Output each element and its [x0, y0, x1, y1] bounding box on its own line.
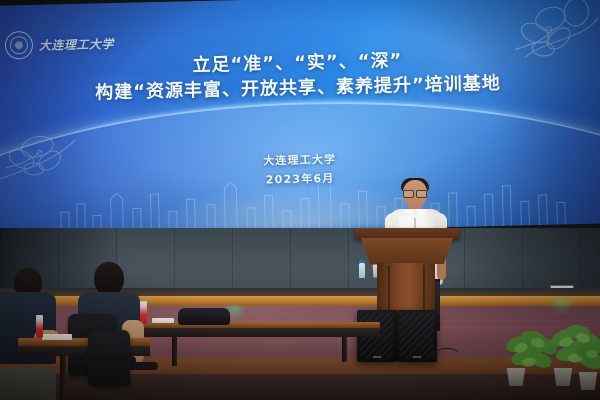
black-laptop-bag	[178, 308, 230, 325]
audience-desk-front-edge	[18, 346, 150, 356]
lectern-top	[355, 228, 459, 239]
slide-background: 大连理工大学 立足“准”、“实”、“深” 构建“资源丰富、开放共享、素养提升”培…	[0, 0, 600, 238]
projection-screen: 大连理工大学 立足“准”、“实”、“深” 构建“资源丰富、开放共享、素养提升”培…	[0, 0, 600, 238]
office-chair-left-arm	[84, 356, 136, 365]
floor-speaker-right	[397, 310, 437, 362]
paper-document-front	[42, 334, 72, 340]
attendee-left-legs	[0, 368, 56, 400]
podium-group	[355, 180, 465, 365]
audience-desk-back-leg-2	[342, 336, 347, 362]
photo-scene: 大连理工大学 立足“准”、“实”、“深” 构建“资源丰富、开放共享、素养提升”培…	[0, 0, 600, 400]
speaker-cable	[433, 348, 461, 364]
speaker-badge-right	[413, 356, 421, 358]
lectern-water-bottle	[359, 263, 365, 278]
plant-foliage-3-icon	[575, 336, 600, 378]
water-bottle-clear	[36, 318, 43, 338]
potted-plant-3	[575, 336, 600, 383]
screen-vignette	[0, 0, 600, 238]
eyeglasses-icon	[403, 190, 427, 196]
audience-desk-back-leg-1	[172, 336, 177, 366]
water-bottle-clear-cap	[36, 315, 43, 319]
speaker-badge-left	[373, 356, 381, 358]
lectern-face	[361, 238, 453, 264]
panel-reflection-right	[548, 299, 574, 315]
attendee-center-head	[94, 262, 124, 296]
audience-desk-front-leg	[60, 355, 66, 400]
